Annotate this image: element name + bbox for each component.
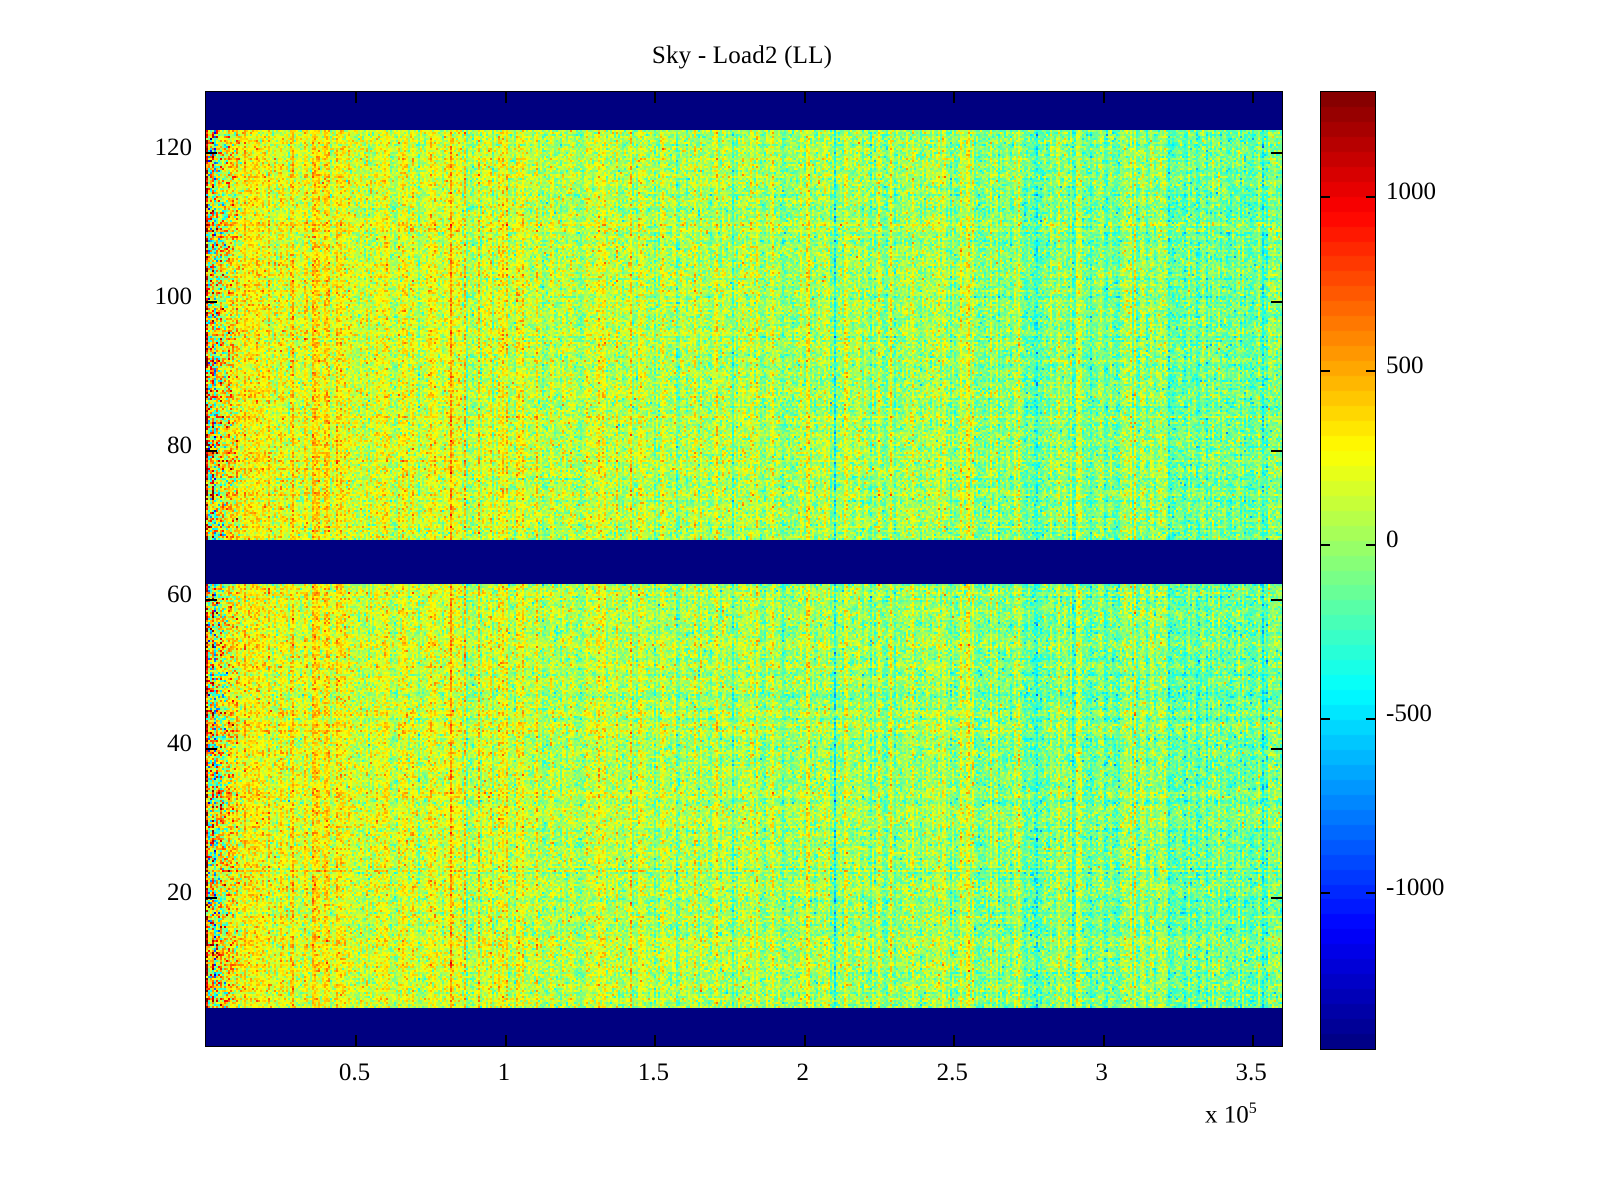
x-tick-mark xyxy=(654,1035,656,1046)
colorbar-gradient xyxy=(1321,92,1375,1049)
x-tick-label: 0.5 xyxy=(339,1059,370,1087)
x-tick-mark-top xyxy=(654,92,656,103)
x-tick-mark-top xyxy=(804,92,806,103)
y-tick-mark-right xyxy=(1271,599,1282,601)
colorbar-tick-label: 1000 xyxy=(1386,178,1436,206)
figure-canvas: Sky - Load2 (LL) 20406080100120 0.511.52… xyxy=(0,0,1600,1200)
x-tick-mark-top xyxy=(355,92,357,103)
y-tick-label: 100 xyxy=(155,283,193,311)
colorbar-tick-mark xyxy=(1321,196,1330,198)
x-tick-mark-top xyxy=(1252,92,1254,103)
exponent-prefix: x 10 xyxy=(1205,1101,1249,1128)
y-tick-mark xyxy=(206,897,217,899)
x-tick-mark xyxy=(953,1035,955,1046)
x-tick-label: 3 xyxy=(1095,1059,1108,1087)
y-tick-mark xyxy=(206,450,217,452)
y-tick-mark xyxy=(206,599,217,601)
colorbar-tick-label: 0 xyxy=(1386,526,1399,554)
heatmap-image xyxy=(206,92,1282,1046)
colorbar-tick-mark xyxy=(1321,892,1330,894)
y-tick-mark-right xyxy=(1271,152,1282,154)
y-tick-label: 60 xyxy=(167,581,192,609)
x-axis-exponent-label: x 105 xyxy=(1205,1100,1257,1129)
colorbar-tick-mark-right xyxy=(1366,544,1375,546)
colorbar-tick-label: -1000 xyxy=(1386,874,1444,902)
x-tick-mark xyxy=(355,1035,357,1046)
y-tick-mark xyxy=(206,301,217,303)
y-tick-mark-right xyxy=(1271,450,1282,452)
colorbar[interactable] xyxy=(1320,91,1376,1050)
chart-title: Sky - Load2 (LL) xyxy=(0,42,1484,70)
exponent-power: 5 xyxy=(1249,1100,1257,1117)
x-tick-mark xyxy=(505,1035,507,1046)
x-tick-label: 3.5 xyxy=(1235,1059,1266,1087)
x-tick-mark xyxy=(1103,1035,1105,1046)
y-tick-label: 20 xyxy=(167,879,192,907)
colorbar-tick-label: -500 xyxy=(1386,700,1432,728)
y-tick-mark-right xyxy=(1271,748,1282,750)
x-tick-label: 2.5 xyxy=(937,1059,968,1087)
x-tick-mark-top xyxy=(953,92,955,103)
y-tick-mark-right xyxy=(1271,897,1282,899)
colorbar-tick-mark-right xyxy=(1366,892,1375,894)
y-tick-mark xyxy=(206,748,217,750)
x-tick-label: 1.5 xyxy=(638,1059,669,1087)
y-tick-mark xyxy=(206,152,217,154)
colorbar-tick-mark-right xyxy=(1366,196,1375,198)
colorbar-tick-mark-right xyxy=(1366,370,1375,372)
colorbar-tick-label: 500 xyxy=(1386,352,1424,380)
colorbar-tick-mark xyxy=(1321,718,1330,720)
y-tick-label: 40 xyxy=(167,730,192,758)
x-tick-label: 1 xyxy=(498,1059,511,1087)
x-tick-label: 2 xyxy=(797,1059,810,1087)
x-tick-mark xyxy=(1252,1035,1254,1046)
y-tick-label: 80 xyxy=(167,432,192,460)
colorbar-tick-mark-right xyxy=(1366,718,1375,720)
y-tick-mark-right xyxy=(1271,301,1282,303)
colorbar-tick-mark xyxy=(1321,370,1330,372)
x-tick-mark-top xyxy=(1103,92,1105,103)
y-tick-label: 120 xyxy=(155,134,193,162)
heatmap-axes[interactable] xyxy=(205,91,1283,1047)
x-tick-mark-top xyxy=(505,92,507,103)
colorbar-tick-mark xyxy=(1321,544,1330,546)
x-tick-mark xyxy=(804,1035,806,1046)
